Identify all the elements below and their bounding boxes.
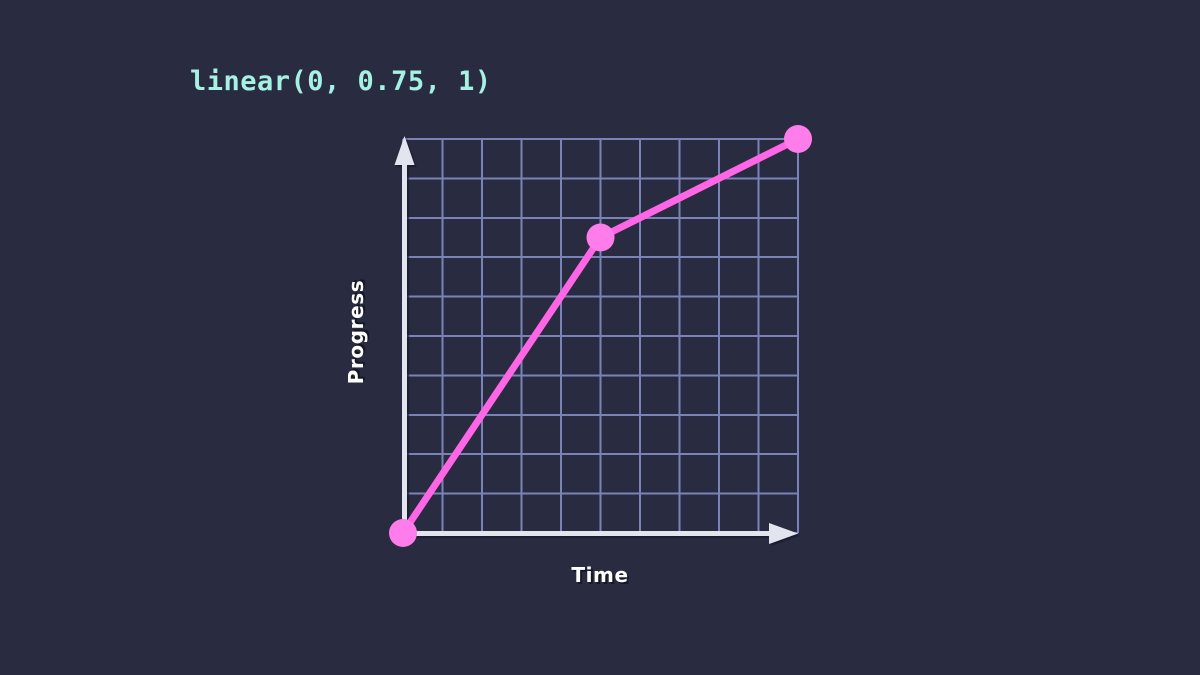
y-axis-label: Progress	[344, 280, 368, 385]
plot-axes	[395, 136, 799, 544]
y-axis-arrow-icon	[395, 136, 415, 165]
data-point-mid[interactable]	[587, 224, 615, 252]
data-point-start[interactable]	[389, 519, 417, 547]
data-point-end[interactable]	[784, 125, 812, 153]
x-axis-arrow-icon	[769, 523, 798, 544]
chart-canvas: linear(0, 0.75, 1)	[0, 0, 1200, 675]
plot-grid	[403, 139, 798, 533]
x-axis-label: Time	[571, 563, 628, 587]
